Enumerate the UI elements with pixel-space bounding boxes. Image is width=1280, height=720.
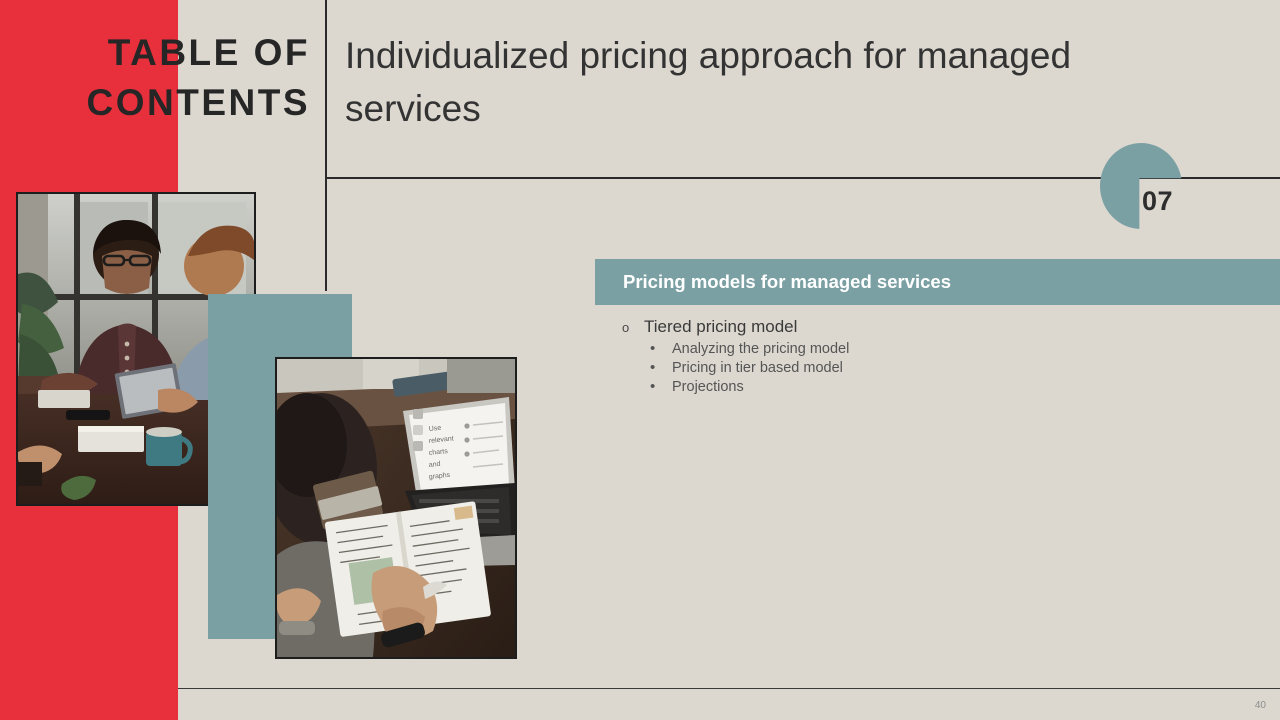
slide-canvas: TABLE OF CONTENTS Individualized pricing… (0, 0, 1280, 720)
section-banner: Pricing models for managed services (595, 259, 1280, 305)
bullet-sub-marker: • (650, 378, 672, 395)
list-item: • Analyzing the pricing model (650, 340, 1142, 357)
bullet-primary: o Tiered pricing model (622, 317, 1142, 337)
bullet-sub-label: Analyzing the pricing model (672, 341, 849, 357)
svg-text:and: and (428, 461, 440, 469)
notebook-photo-art: Use relevant charts and graphs (277, 359, 515, 657)
header-vertical-divider (325, 0, 327, 291)
page-number: 40 (1255, 700, 1266, 711)
bullet-sub-label: Projections (672, 379, 744, 395)
bullet-primary-label: Tiered pricing model (644, 317, 797, 337)
svg-text:Use: Use (428, 425, 441, 433)
section-banner-label: Pricing models for managed services (595, 271, 951, 293)
notebook-photo: Use relevant charts and graphs (275, 357, 517, 659)
footer-divider (178, 688, 1280, 689)
content-bullet-list: o Tiered pricing model • Analyzing the p… (622, 317, 1142, 397)
list-item: • Projections (650, 378, 1142, 395)
bullet-sub-marker: • (650, 359, 672, 376)
bullet-sub-marker: • (650, 340, 672, 357)
page-title: Individualized pricing approach for mana… (345, 30, 1135, 135)
bullet-sub-list: • Analyzing the pricing model • Pricing … (622, 340, 1142, 395)
table-of-contents-heading: TABLE OF CONTENTS (0, 28, 310, 129)
section-number-label: 07 (1142, 186, 1173, 217)
bullet-primary-marker: o (622, 320, 644, 335)
bullet-sub-label: Pricing in tier based model (672, 360, 843, 376)
list-item: • Pricing in tier based model (650, 359, 1142, 376)
